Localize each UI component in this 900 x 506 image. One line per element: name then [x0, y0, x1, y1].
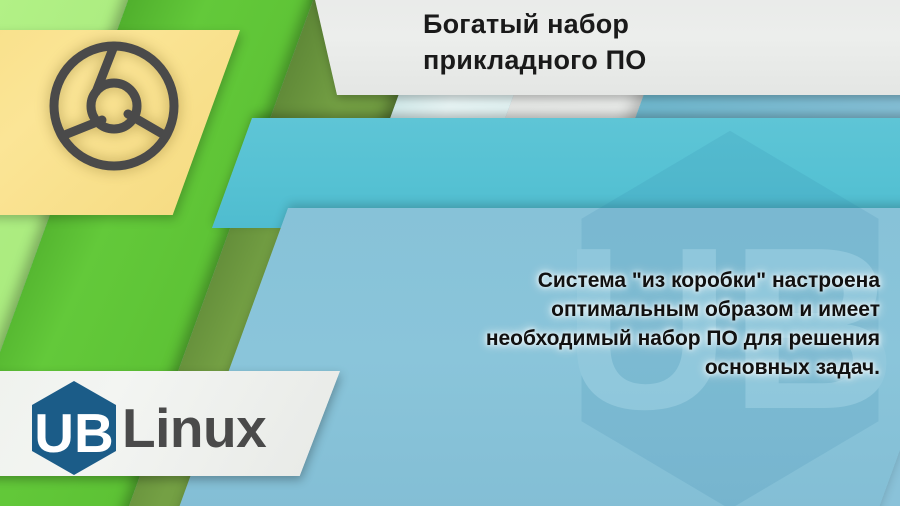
chrome-browser-icon	[44, 36, 184, 176]
slide-title: Богатый набор прикладного ПО	[423, 6, 893, 78]
ub-hexagon-label: UB	[34, 402, 113, 464]
title-line-1: Богатый набор	[423, 6, 893, 42]
body-line-1: Система "из коробки" настроена	[398, 266, 880, 295]
title-line-2: прикладного ПО	[423, 42, 893, 78]
body-line-2: оптимальным образом и имеет	[398, 295, 880, 324]
body-line-4: основных задач.	[398, 353, 880, 382]
ublinux-logo: UB Linux	[28, 379, 266, 477]
ub-hexagon-icon: UB	[28, 379, 120, 477]
logo-wordmark: Linux	[122, 401, 266, 456]
body-line-3: необходимый набор ПО для решения	[398, 324, 880, 353]
slide-body-text: Система "из коробки" настроена оптимальн…	[398, 266, 880, 382]
presentation-slide: UB Богатый набор прикладного ПО Система …	[0, 0, 900, 506]
